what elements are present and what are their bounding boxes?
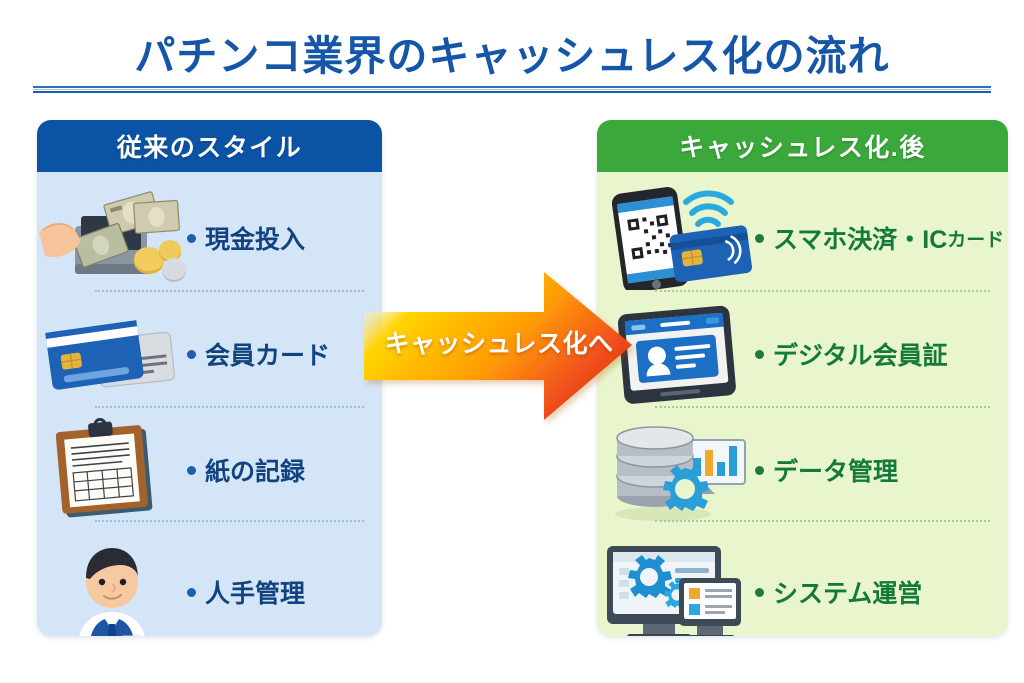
row-divider bbox=[655, 290, 990, 292]
monitor-gears-icon bbox=[597, 532, 755, 636]
page-title: パチンコ業界のキャッシュレス化の流れ bbox=[0, 22, 1024, 82]
list-item-label-wrap: システム運営 bbox=[755, 574, 1008, 610]
bullet-icon bbox=[187, 588, 196, 597]
list-item-label-wrap: 紙の記録 bbox=[187, 452, 382, 488]
list-item-label-wrap: 人手管理 bbox=[187, 574, 382, 610]
panel-traditional-header: 従来のスタイル bbox=[37, 120, 382, 172]
bullet-icon bbox=[187, 234, 196, 243]
row-divider bbox=[95, 290, 364, 292]
list-item: デジタル会員証 bbox=[597, 302, 1008, 406]
list-item-label-wrap: デジタル会員証 bbox=[755, 336, 1008, 372]
membership-card-icon bbox=[37, 302, 187, 406]
paper-clipboard-icon bbox=[37, 418, 187, 522]
list-item: 人手管理 bbox=[37, 532, 382, 636]
cash-insert-icon bbox=[37, 186, 187, 290]
panel-cashless-header: キャッシュレス化.後 bbox=[597, 120, 1008, 172]
row-divider bbox=[655, 520, 990, 522]
bullet-icon bbox=[187, 350, 196, 359]
list-item: システム運営 bbox=[597, 532, 1008, 636]
panel-traditional-body: 現金投入 bbox=[37, 172, 382, 636]
list-item: 会員カード bbox=[37, 302, 382, 406]
list-item-label: システム運営 bbox=[773, 574, 922, 610]
list-item: 現金投入 bbox=[37, 186, 382, 290]
staff-person-icon bbox=[37, 532, 187, 636]
bullet-icon bbox=[755, 350, 764, 359]
database-gear-chart-icon bbox=[597, 418, 755, 522]
list-item-label-wrap: 会員カード bbox=[187, 336, 382, 372]
row-divider bbox=[95, 406, 364, 408]
bullet-icon bbox=[187, 466, 196, 475]
title-divider bbox=[33, 86, 991, 96]
list-item: 紙の記録 bbox=[37, 418, 382, 522]
list-item-label-wrap: 現金投入 bbox=[187, 220, 382, 256]
list-item-label: 会員カード bbox=[205, 336, 330, 372]
panel-cashless-body: スマホ決済・IC カード bbox=[597, 172, 1008, 636]
panel-traditional: 従来のスタイル bbox=[37, 120, 382, 636]
list-item: スマホ決済・IC カード bbox=[597, 186, 1008, 290]
list-item: データ管理 bbox=[597, 418, 1008, 522]
list-item-label: 人手管理 bbox=[205, 574, 305, 610]
bullet-icon bbox=[755, 466, 764, 475]
list-item-label: デジタル会員証 bbox=[773, 336, 948, 372]
bullet-icon bbox=[755, 234, 764, 243]
list-item-label: スマホ決済・IC bbox=[773, 220, 947, 256]
infographic-canvas: パチンコ業界のキャッシュレス化の流れ 従来のスタイル bbox=[0, 0, 1024, 683]
bullet-icon bbox=[755, 588, 764, 597]
arrow-shape-icon bbox=[358, 268, 638, 428]
list-item-label: データ管理 bbox=[773, 452, 898, 488]
row-divider bbox=[95, 520, 364, 522]
row-divider bbox=[655, 406, 990, 408]
list-item-label-wrap: データ管理 bbox=[755, 452, 1008, 488]
list-item-label-wrap: スマホ決済・IC カード bbox=[755, 220, 1008, 256]
list-item-label: 紙の記録 bbox=[205, 452, 305, 488]
transition-arrow: キャッシュレス化へ bbox=[358, 268, 638, 428]
list-item-label: 現金投入 bbox=[205, 220, 305, 256]
panel-cashless: キャッシュレス化.後 bbox=[597, 120, 1008, 636]
list-item-label-suffix: カード bbox=[947, 225, 1004, 252]
